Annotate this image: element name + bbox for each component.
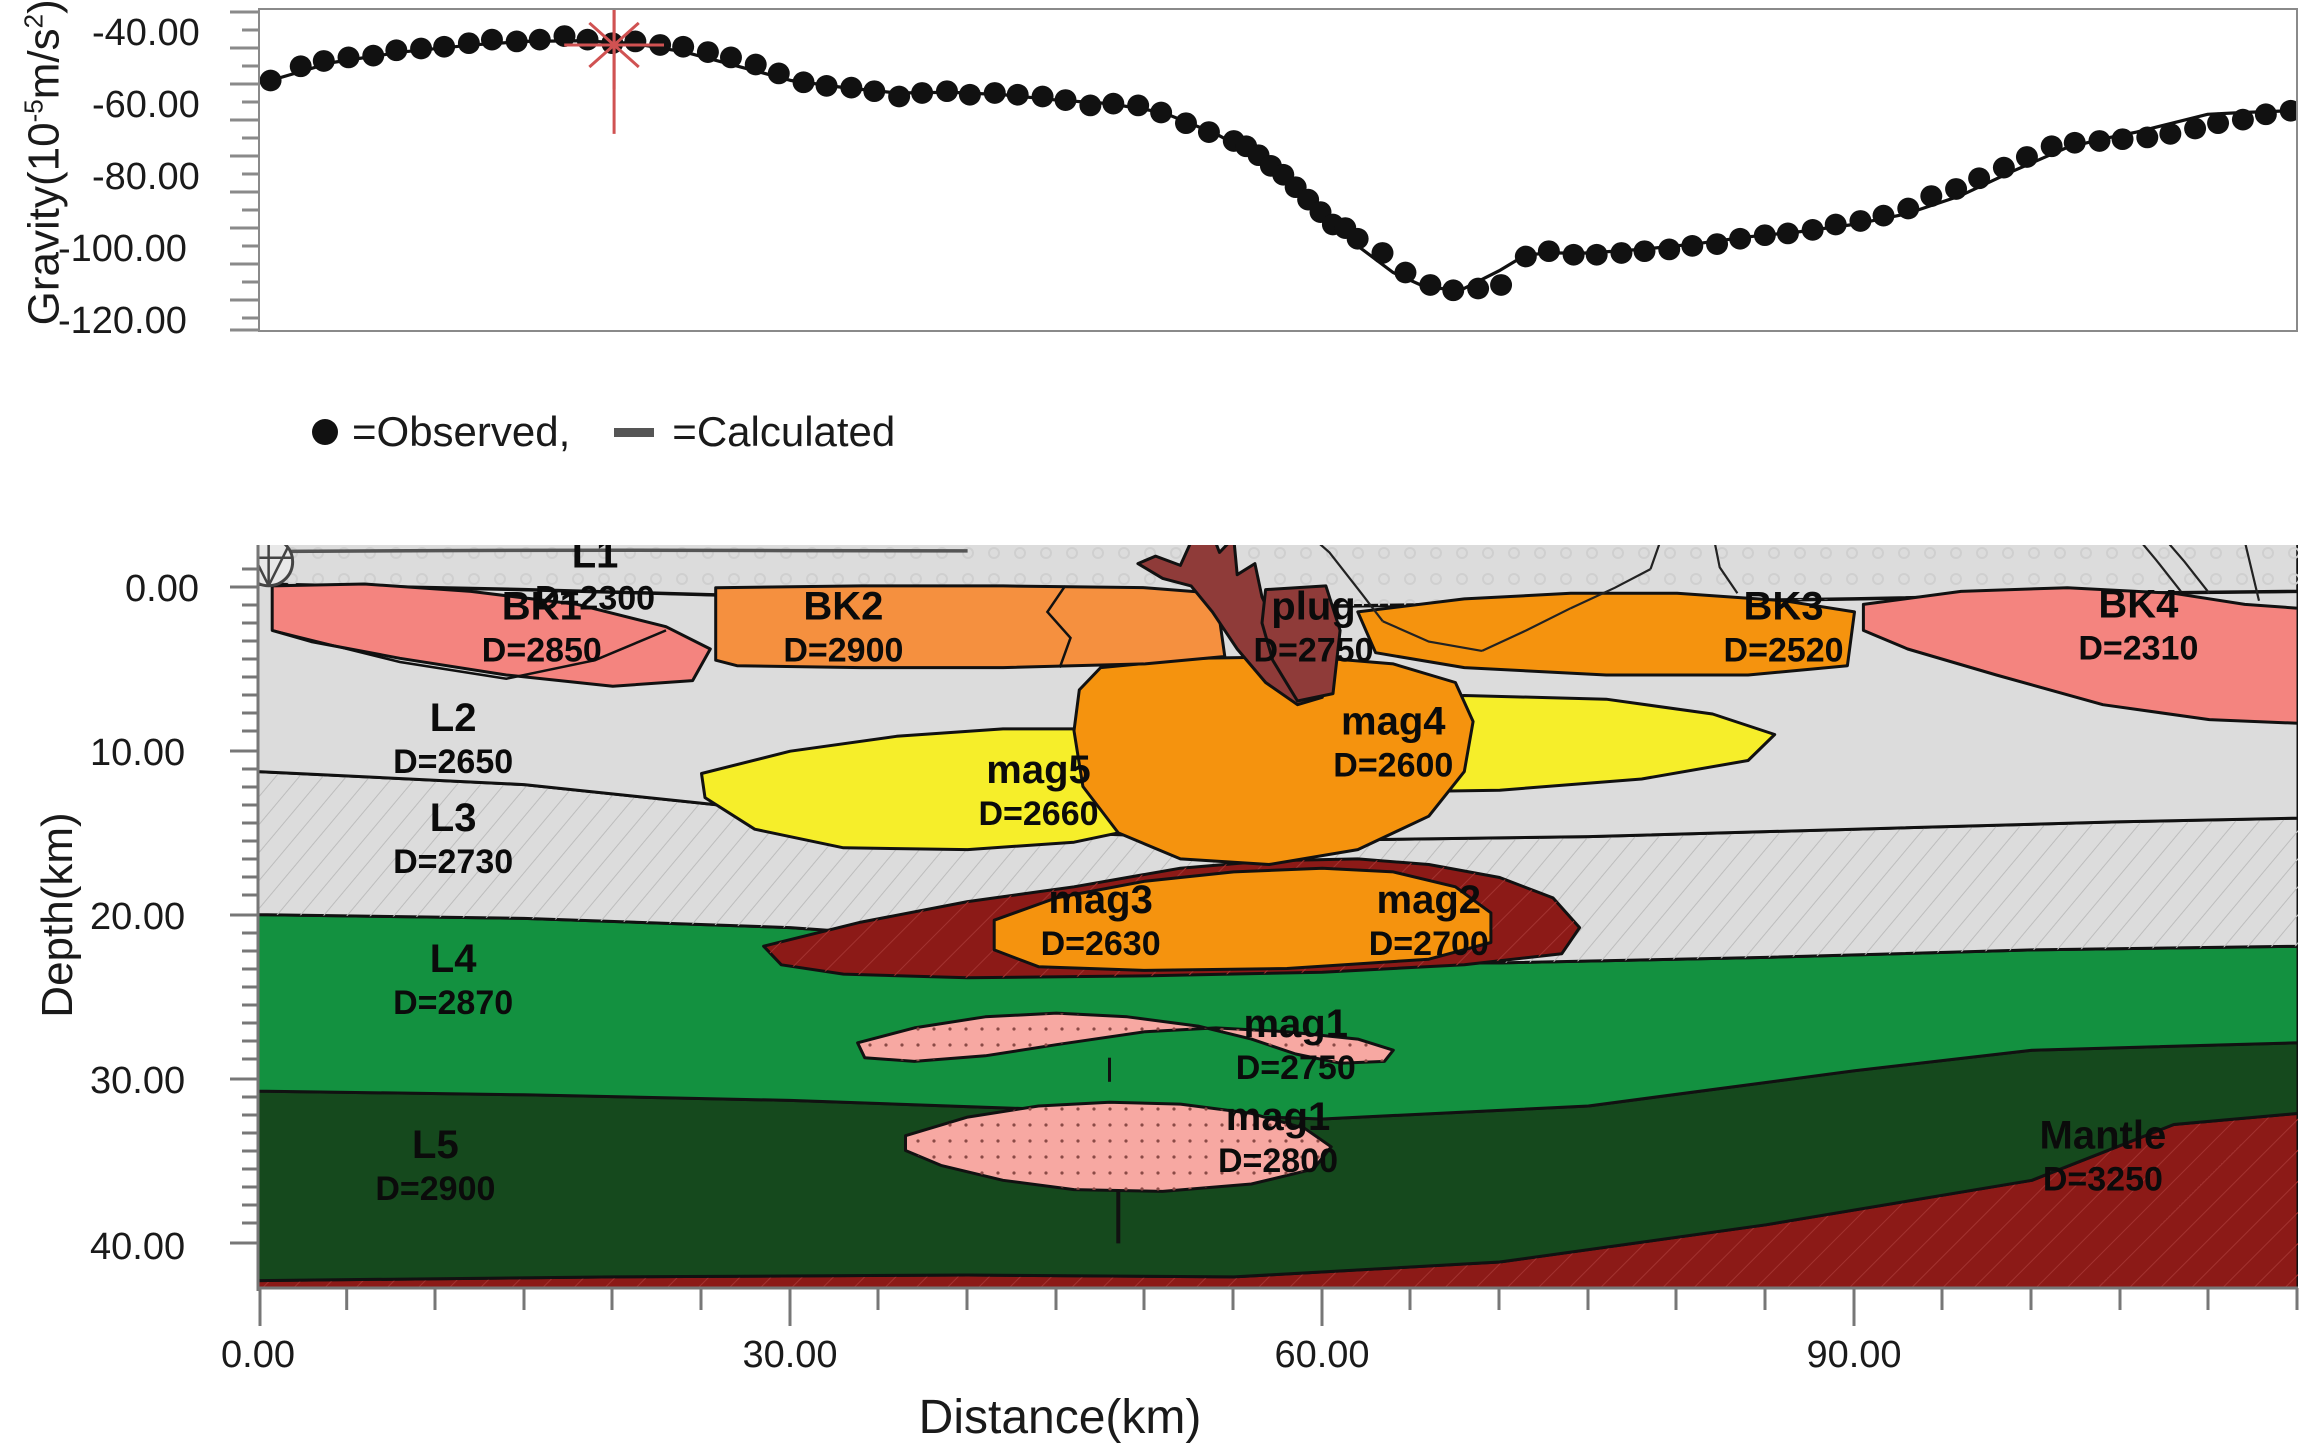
- body-name-L1: L1: [572, 545, 619, 576]
- body-name-BK4: BK4: [2098, 582, 2179, 626]
- depth-ytick-1: 10.00: [90, 732, 185, 775]
- body-label-mag2: mag2D=2700: [1369, 878, 1489, 963]
- body-density-BK4: D=2310: [2078, 629, 2198, 667]
- model-cross-section-svg: L1D=2300BK1D=2850BK2D=2900plugD=2750BK3D…: [258, 545, 2298, 1288]
- body-density-mag4: D=2600: [1333, 746, 1453, 784]
- distance-axis-title: Distance(km): [919, 1390, 1202, 1445]
- body-label-Mantle: MantleD=3250: [2040, 1114, 2167, 1199]
- body-name-BK2: BK2: [803, 584, 883, 628]
- distance-xtick-0: 0.00: [221, 1334, 295, 1377]
- body-density-mag5: D=2660: [978, 795, 1098, 833]
- body-density-mag1b: D=2800: [1218, 1142, 1338, 1180]
- body-name-L3: L3: [430, 796, 477, 840]
- gravity-axis-title-text: Gravity(10: [19, 122, 68, 325]
- depth-ytick-3: 30.00: [90, 1060, 185, 1103]
- distance-xtick-1: 30.00: [742, 1334, 837, 1377]
- body-name-mag1b: mag1: [1226, 1095, 1331, 1139]
- body-label-mag4: mag4D=2600: [1333, 699, 1453, 784]
- body-name-mag1a: mag1: [1243, 1002, 1348, 1046]
- distance-xtick-3: 90.00: [1806, 1334, 1901, 1377]
- body-name-mag2: mag2: [1377, 878, 1482, 922]
- body-name-L4: L4: [430, 937, 477, 981]
- depth-yaxis-ticks: [214, 545, 260, 1291]
- gravity-profile-panel: [258, 8, 2298, 332]
- body-density-L3: D=2730: [393, 843, 513, 881]
- gravity-axis-exp: -5: [19, 99, 49, 122]
- body-density-L2: D=2650: [393, 743, 513, 781]
- gravity-ytick-3: -100.00: [58, 228, 187, 271]
- legend-calculated-dash: [614, 428, 654, 437]
- body-name-mag5: mag5: [986, 748, 1091, 792]
- body-label-plug: plugD=2750: [1253, 584, 1373, 669]
- body-name-mag3: mag3: [1048, 878, 1153, 922]
- body-density-plug: D=2750: [1253, 631, 1373, 669]
- body-density-mag1a: D=2750: [1236, 1049, 1356, 1087]
- depth-ytick-2: 20.00: [90, 896, 185, 939]
- gravity-axis-unit: m/s: [19, 28, 68, 99]
- gravity-axis-title: Gravity(10-5m/s2): [19, 25, 70, 325]
- body-name-Mantle: Mantle: [2040, 1114, 2167, 1158]
- legend-observed-label: =Observed,: [352, 408, 570, 456]
- body-name-plug: plug: [1271, 584, 1355, 628]
- gravity-ytick-2: -80.00: [92, 156, 200, 199]
- body-name-BK1: BK1: [502, 584, 582, 628]
- body-name-L5: L5: [412, 1123, 459, 1167]
- legend-calculated-label: =Calculated: [672, 408, 895, 456]
- body-label-mag1b: mag1D=2800: [1218, 1095, 1338, 1180]
- gravity-ytick-4: -120.00: [58, 300, 187, 343]
- body-density-mag2: D=2700: [1369, 925, 1489, 963]
- body-density-BK1: D=2850: [482, 631, 602, 669]
- density-model-panel: L1D=2300BK1D=2850BK2D=2900plugD=2750BK3D…: [258, 545, 2298, 1288]
- body-label-mag1a: mag1D=2750: [1236, 1002, 1356, 1087]
- gravity-ytick-1: -60.00: [92, 84, 200, 127]
- gravity-ytick-0: -40.00: [92, 12, 200, 55]
- body-name-L2: L2: [430, 696, 477, 740]
- gravity-yaxis-ticks: [214, 8, 260, 334]
- depth-axis-title: Depth(km): [33, 765, 83, 1065]
- legend-observed-dot: [312, 419, 338, 445]
- body-density-L5: D=2900: [375, 1170, 495, 1208]
- gravity-plot-svg: [260, 10, 2296, 330]
- gravity-axis-exp2: 2: [19, 14, 49, 28]
- depth-ytick-4: 40.00: [90, 1226, 185, 1269]
- body-density-BK2: D=2900: [783, 631, 903, 669]
- star-marker: [564, 10, 664, 134]
- body-density-BK3: D=2520: [1724, 631, 1844, 669]
- body-label-mag5: mag5D=2660: [978, 748, 1098, 833]
- figure-root: -40.00 -60.00 -80.00 -100.00 -120.00 Gra…: [0, 0, 2316, 1455]
- gravity-legend: =Observed, =Calculated: [312, 408, 895, 456]
- body-density-Mantle: D=3250: [2043, 1161, 2163, 1199]
- body-density-L4: D=2870: [393, 984, 513, 1022]
- body-name-mag4: mag4: [1341, 699, 1446, 743]
- body-label-mag3: mag3D=2630: [1041, 878, 1161, 963]
- depth-ytick-0: 0.00: [125, 568, 199, 611]
- observed-points: [260, 25, 2296, 301]
- body-density-mag3: D=2630: [1041, 925, 1161, 963]
- distance-xtick-2: 60.00: [1274, 1334, 1369, 1377]
- gravity-axis-paren: ): [19, 0, 68, 14]
- body-name-BK3: BK3: [1744, 584, 1824, 628]
